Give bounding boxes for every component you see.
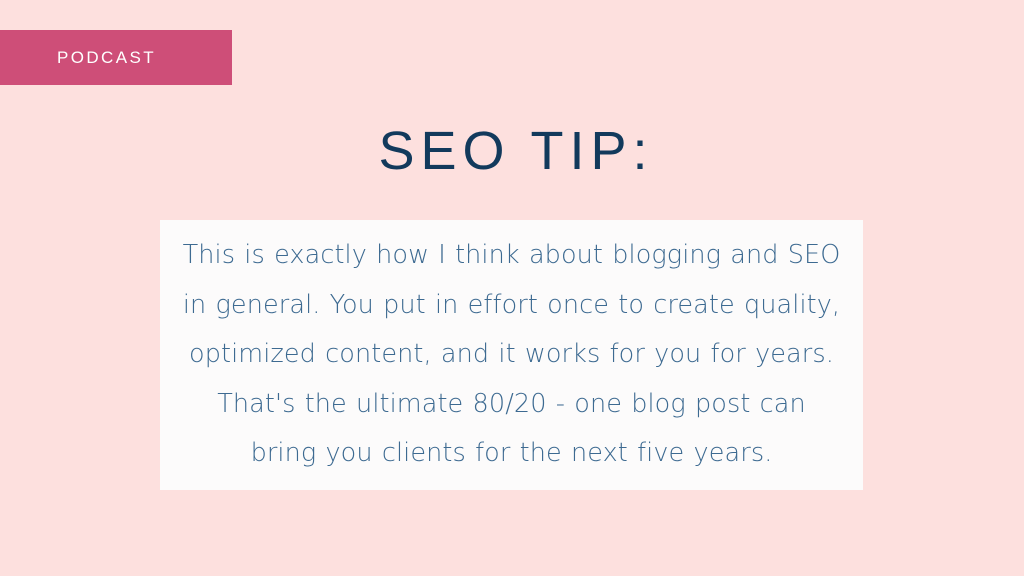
podcast-quote-slide: PODCAST SEO TIP: This is exactly how I t… [0,0,1024,576]
category-badge: PODCAST [0,30,232,85]
quote-text: This is exactly how I think about bloggi… [182,231,842,479]
page-title: SEO TIP: [0,122,1024,180]
category-badge-label: PODCAST [0,49,156,66]
quote-card: This is exactly how I think about bloggi… [160,220,863,490]
